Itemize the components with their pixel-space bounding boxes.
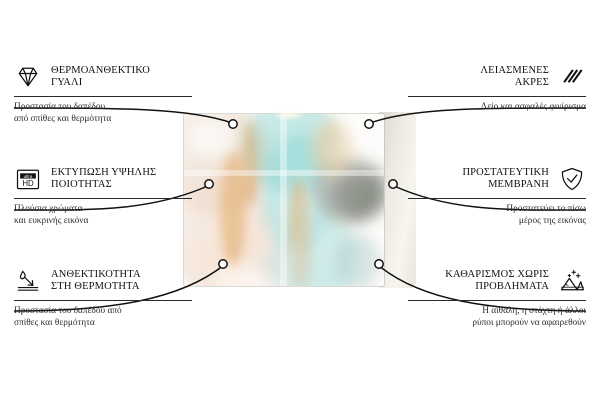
feature-divider [408,198,586,199]
marble-artwork [184,114,384,286]
flame-deflect-icon [14,267,42,295]
feature-divider [14,300,192,301]
feature-high-quality-print[interactable]: ultra HD ΕΚΤΥΠΩΣΗ ΥΨΗΛΗΣ ΠΟΙΟΤΗΤΑΣ Πλούσ… [14,164,192,227]
feature-header: ΑΝΘΕΚΤΙΚΟΤΗΤΑ ΣΤΗ ΘΕΡΜΟΤΗΤΑ [14,266,192,296]
feature-description: Η αιθάλη, η στάχτη ή άλλοι ρύποι μπορούν… [408,306,586,329]
infographic-canvas: ΘΕΡΜΟΑΝΘΕΚΤΙΚΟ ΓΥΑΛΙ Προστασία του δαπέδ… [0,0,600,400]
feature-divider [408,96,586,97]
feature-description: Λείο και ασφαλές φινίρισμα [408,102,586,114]
feature-divider [408,300,586,301]
feature-polished-edges[interactable]: ΛΕΙΑΣΜΕΝΕΣ ΑΚΡΕΣ Λείο και ασφαλές φινίρι… [408,62,586,114]
feature-title: ΘΕΡΜΟΑΝΘΕΚΤΙΚΟ ΓΥΑΛΙ [51,65,150,90]
feature-protective-membrane[interactable]: ΠΡΟΣΤΑΤΕΥΤΙΚΗ ΜΕΜΒΡΑΝΗ Προστατεύει το πί… [408,164,586,227]
feature-title: ΑΝΘΕΚΤΙΚΟΤΗΤΑ ΣΤΗ ΘΕΡΜΟΤΗΤΑ [51,269,141,294]
feature-title: ΛΕΙΑΣΜΕΝΕΣ ΑΚΡΕΣ [480,65,549,90]
feature-header: ΘΕΡΜΟΑΝΘΕΚΤΙΚΟ ΓΥΑΛΙ [14,62,192,92]
svg-text:ultra: ultra [24,174,33,179]
product-front-glass [184,114,384,286]
feature-description: Προστατεύει το πίσω μέρος της εικόνας [408,204,586,227]
feature-heat-durability[interactable]: ΑΝΘΕΚΤΙΚΟΤΗΤΑ ΣΤΗ ΘΕΡΜΟΤΗΤΑ Προστασία το… [14,266,192,329]
ultra-hd-icon: ultra HD [14,165,42,193]
feature-easy-cleaning[interactable]: ΚΑΘΑΡΙΣΜΟΣ ΧΩΡΙΣ ΠΡΟΒΛΗΜΑΤΑ Η αιθάλη, η … [408,266,586,329]
feature-description: Πλούσια χρώματα και ευκρινής εικόνα [14,204,192,227]
feature-divider [14,198,192,199]
feature-heat-resistant-glass[interactable]: ΘΕΡΜΟΑΝΘΕΚΤΙΚΟ ΓΥΑΛΙ Προστασία του δαπέδ… [14,62,192,125]
feature-title: ΕΚΤΥΠΩΣΗ ΥΨΗΛΗΣ ΠΟΙΟΤΗΤΑΣ [51,167,156,192]
feature-description: Προστασία του δαπέδου από σπίθες και θερ… [14,102,192,125]
svg-text:HD: HD [22,179,34,188]
feature-description: Προστασία του δαπέδου από σπίθες και θερ… [14,306,192,329]
feature-divider [14,96,192,97]
shield-check-icon [558,165,586,193]
feature-header: ΚΑΘΑΡΙΣΜΟΣ ΧΩΡΙΣ ΠΡΟΒΛΗΜΑΤΑ [408,266,586,296]
feature-header: ΠΡΟΣΤΑΤΕΥΤΙΚΗ ΜΕΜΒΡΑΝΗ [408,164,586,194]
diagonal-lines-icon [558,63,586,91]
feature-header: ΛΕΙΑΣΜΕΝΕΣ ΑΚΡΕΣ [408,62,586,92]
feature-header: ultra HD ΕΚΤΥΠΩΣΗ ΥΨΗΛΗΣ ΠΟΙΟΤΗΤΑΣ [14,164,192,194]
feature-title: ΠΡΟΣΤΑΤΕΥΤΙΚΗ ΜΕΜΒΡΑΝΗ [462,167,549,192]
diamond-icon [14,63,42,91]
feature-title: ΚΑΘΑΡΙΣΜΟΣ ΧΩΡΙΣ ΠΡΟΒΛΗΜΑΤΑ [445,269,549,294]
product-image [184,114,416,286]
wipe-sparkle-icon [558,267,586,295]
